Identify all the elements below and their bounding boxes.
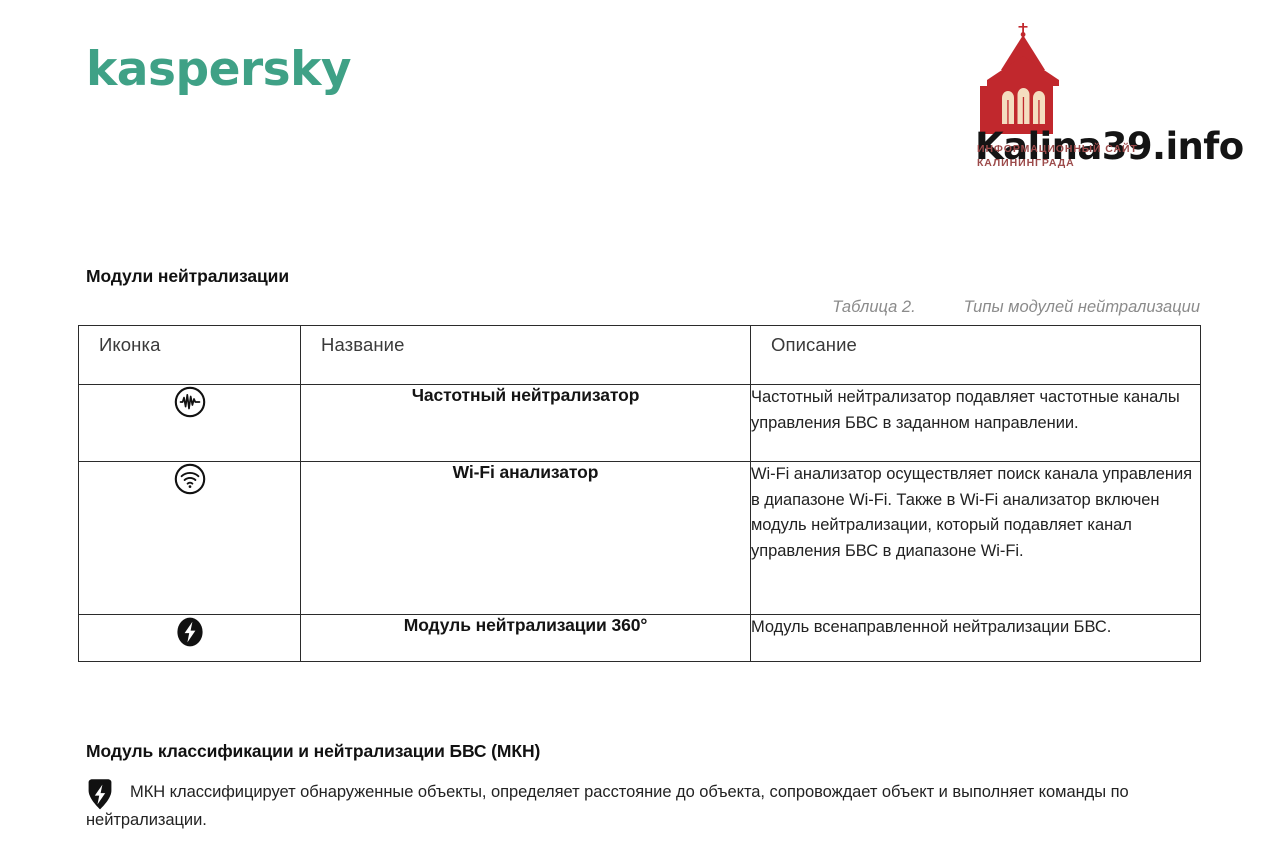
column-header-icon: Иконка — [79, 326, 301, 385]
mkn-paragraph-block: МКН классифицирует обнаруженные объекты,… — [86, 778, 1196, 834]
church-tower-icon — [975, 22, 1075, 142]
table-caption: Таблица 2.Типы модулей нейтрализации — [832, 297, 1200, 317]
wifi-circle-icon — [173, 462, 207, 496]
shield-bolt-icon — [86, 778, 114, 812]
neutralization-modules-table: Иконка Название Описание Частотный нейтр… — [78, 325, 1201, 662]
waveform-circle-icon — [173, 385, 207, 419]
section-heading-mkn: Модуль классификации и нейтрализации БВС… — [86, 740, 540, 762]
kalina39-logo: Kalina39.info ИНФОРМАЦИОННЫЙ САЙТ КАЛИНИ… — [975, 22, 1215, 172]
table-row: Частотный нейтрализатор Частотный нейтра… — [79, 385, 1201, 462]
table-caption-number: Таблица 2. — [832, 298, 915, 316]
column-header-name: Название — [301, 326, 751, 385]
row-icon-cell — [79, 385, 301, 462]
table-row: Модуль нейтрализации 360° Модуль всенапр… — [79, 615, 1201, 662]
column-header-description: Описание — [751, 326, 1201, 385]
row-icon-cell — [79, 462, 301, 615]
row-icon-cell — [79, 615, 301, 662]
table-caption-title: Типы модулей нейтрализации — [964, 298, 1200, 316]
page-header: kaspersky Kalina39.info ИНФОРМАЦИОН — [0, 0, 1280, 200]
row-description-cell: Модуль всенаправленной нейтрализации БВС… — [751, 615, 1201, 662]
row-name-cell: Wi-Fi анализатор — [301, 462, 751, 615]
row-name-cell: Частотный нейтрализатор — [301, 385, 751, 462]
bolt-circle-filled-icon — [175, 615, 205, 649]
table-header-row: Иконка Название Описание — [79, 326, 1201, 385]
mkn-paragraph-text: МКН классифицирует обнаруженные объекты,… — [86, 778, 1196, 834]
kaspersky-logo: kaspersky — [86, 42, 351, 98]
table-row: Wi-Fi анализатор Wi-Fi анализатор осущес… — [79, 462, 1201, 615]
row-description-cell: Частотный нейтрализатор подавляет частот… — [751, 385, 1201, 462]
kalina39-subtitle: ИНФОРМАЦИОННЫЙ САЙТ КАЛИНИНГРАДА — [977, 143, 1138, 170]
section-heading-modules: Модули нейтрализации — [86, 265, 289, 287]
row-name-cell: Модуль нейтрализации 360° — [301, 615, 751, 662]
row-description-cell: Wi-Fi анализатор осуществляет поиск кана… — [751, 462, 1201, 615]
